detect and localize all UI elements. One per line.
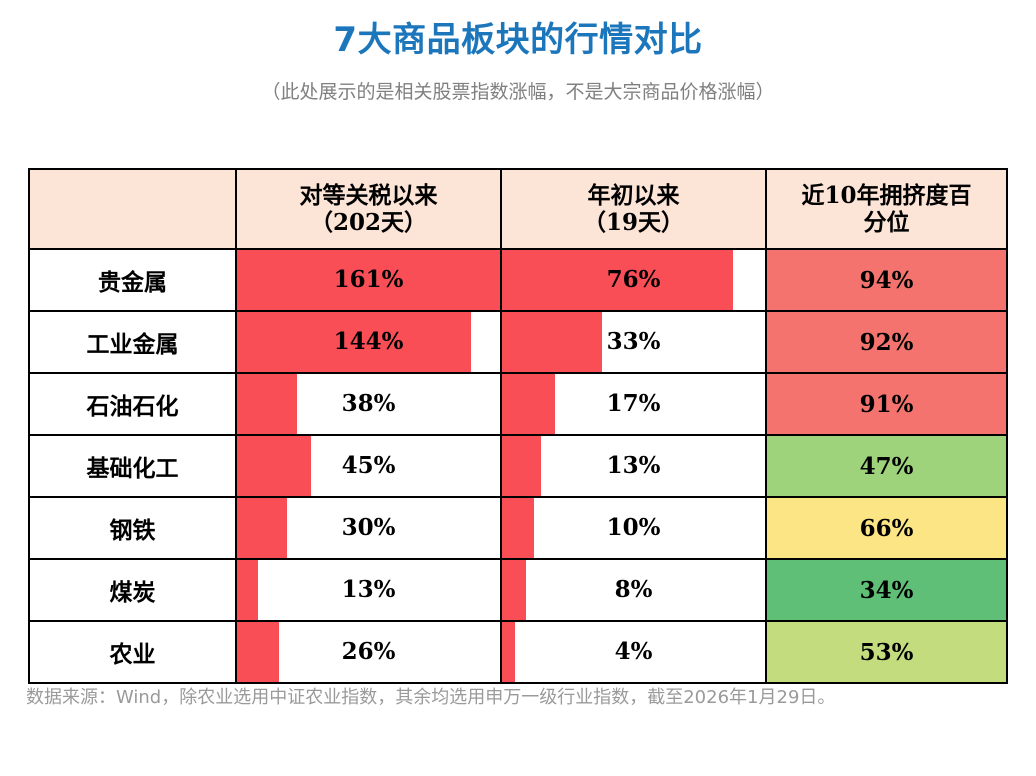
bar-cell-since-tariff-3: 45% (236, 435, 501, 497)
bar-value-ytd-6: 4% (502, 622, 765, 682)
bar-value-since-tariff-4: 30% (237, 498, 500, 558)
bar-cell-ytd-5: 8% (501, 559, 766, 621)
header-cell-since-tariff: 对等关税以来 （202天） (236, 169, 501, 249)
header-cell-ytd: 年初以来 （19天） (501, 169, 766, 249)
header-since-tariff-line2: （202天） (237, 209, 500, 236)
table-header-row: 对等关税以来 （202天） 年初以来 （19天） 近10年拥挤度百 分位 (29, 169, 1007, 249)
bar-cell-since-tariff-2: 38% (236, 373, 501, 435)
bar-value-since-tariff-2: 38% (237, 374, 500, 434)
bar-cell-ytd-6: 4% (501, 621, 766, 683)
row-label-1: 工业金属 (29, 311, 236, 373)
table-body: 贵金属161%76%94%工业金属144%33%92%石油石化38%17%91%… (29, 249, 1007, 683)
row-label-3: 基础化工 (29, 435, 236, 497)
row-label-5: 煤炭 (29, 559, 236, 621)
header-since-tariff-line1: 对等关税以来 (237, 182, 500, 209)
bar-value-ytd-3: 13% (502, 436, 765, 496)
bar-cell-ytd-1: 33% (501, 311, 766, 373)
header-ytd-line2: （19天） (502, 209, 765, 236)
source-note: 数据来源：Wind，除农业选用中证农业指数，其余均选用申万一级行业指数，截至20… (26, 684, 1011, 712)
bar-value-ytd-0: 76% (502, 250, 765, 310)
row-label-6: 农业 (29, 621, 236, 683)
percentile-cell-2: 91% (766, 373, 1007, 435)
table-row: 农业26%4%53% (29, 621, 1007, 683)
table-row: 贵金属161%76%94% (29, 249, 1007, 311)
bar-cell-since-tariff-1: 144% (236, 311, 501, 373)
page-title: 7大商品板块的行情对比 (0, 22, 1036, 59)
header-ytd-line1: 年初以来 (502, 182, 765, 209)
bar-cell-since-tariff-6: 26% (236, 621, 501, 683)
percentile-cell-4: 66% (766, 497, 1007, 559)
bar-value-since-tariff-6: 26% (237, 622, 500, 682)
percentile-cell-5: 34% (766, 559, 1007, 621)
bar-cell-ytd-4: 10% (501, 497, 766, 559)
row-label-0: 贵金属 (29, 249, 236, 311)
bar-cell-ytd-2: 17% (501, 373, 766, 435)
page-subtitle: （此处展示的是相关股票指数涨幅，不是大宗商品价格涨幅） (0, 77, 1036, 104)
bar-value-since-tariff-1: 144% (237, 312, 500, 372)
bar-cell-since-tariff-0: 161% (236, 249, 501, 311)
percentile-cell-6: 53% (766, 621, 1007, 683)
row-label-2: 石油石化 (29, 373, 236, 435)
bar-value-since-tariff-0: 161% (237, 250, 500, 310)
bar-value-ytd-2: 17% (502, 374, 765, 434)
bar-cell-since-tariff-4: 30% (236, 497, 501, 559)
bar-value-since-tariff-3: 45% (237, 436, 500, 496)
table-row: 基础化工45%13%47% (29, 435, 1007, 497)
header-cell-percentile: 近10年拥挤度百 分位 (766, 169, 1007, 249)
table-row: 钢铁30%10%66% (29, 497, 1007, 559)
header-cell-blank (29, 169, 236, 249)
bar-cell-ytd-3: 13% (501, 435, 766, 497)
commodity-comparison-table: 对等关税以来 （202天） 年初以来 （19天） 近10年拥挤度百 分位 贵金属… (28, 168, 1008, 684)
bar-value-ytd-5: 8% (502, 560, 765, 620)
bar-cell-ytd-0: 76% (501, 249, 766, 311)
percentile-cell-3: 47% (766, 435, 1007, 497)
table-row: 石油石化38%17%91% (29, 373, 1007, 435)
bar-value-since-tariff-5: 13% (237, 560, 500, 620)
bar-value-ytd-1: 33% (502, 312, 765, 372)
row-label-4: 钢铁 (29, 497, 236, 559)
table-row: 煤炭13%8%34% (29, 559, 1007, 621)
percentile-cell-1: 92% (766, 311, 1007, 373)
table-row: 工业金属144%33%92% (29, 311, 1007, 373)
header-percentile-line2: 分位 (767, 209, 1006, 236)
header-percentile-line1: 近10年拥挤度百 (767, 182, 1006, 209)
bar-cell-since-tariff-5: 13% (236, 559, 501, 621)
percentile-cell-0: 94% (766, 249, 1007, 311)
bar-value-ytd-4: 10% (502, 498, 765, 558)
